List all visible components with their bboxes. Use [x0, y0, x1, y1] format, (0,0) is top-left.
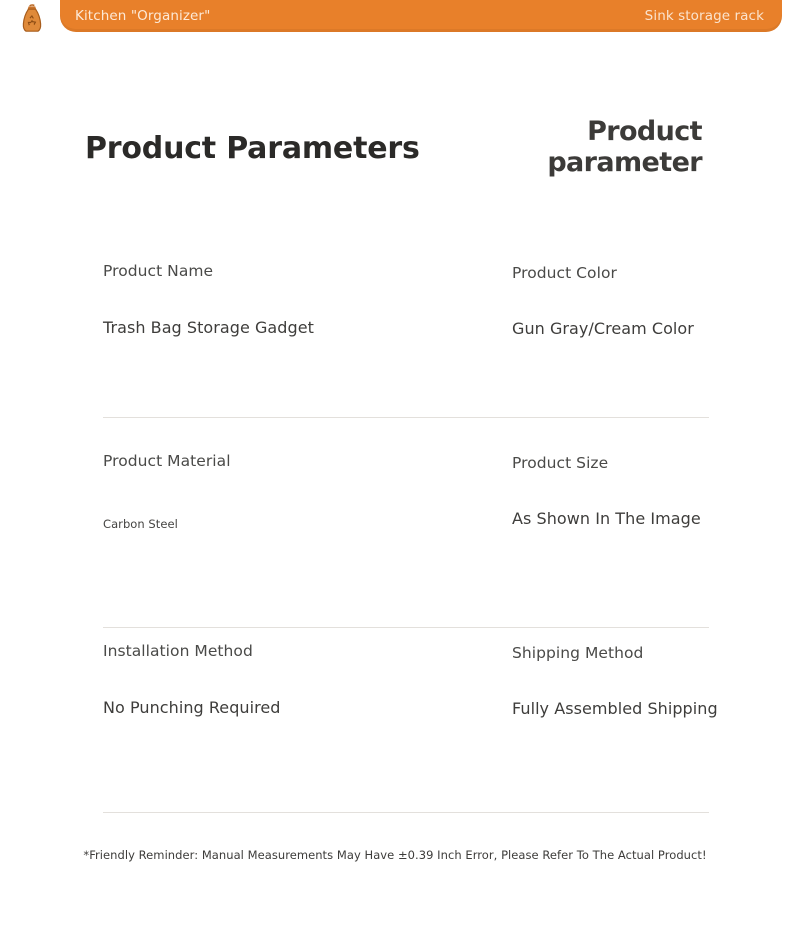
- table-row: Installation Method No Punching Required…: [0, 642, 790, 832]
- spec-value: Gun Gray/Cream Color: [512, 319, 782, 338]
- spec-cell-product-material: Product Material Carbon Steel: [103, 452, 463, 531]
- spec-label: Product Color: [512, 264, 782, 282]
- spec-cell-product-size: Product Size As Shown In The Image: [512, 452, 782, 528]
- measurement-disclaimer: *Friendly Reminder: Manual Measurements …: [0, 848, 790, 862]
- row-divider: [103, 417, 709, 418]
- spec-value: Carbon Steel: [103, 517, 463, 531]
- top-banner: Kitchen "Organizer" Sink storage rack: [60, 0, 782, 32]
- product-parameters-table: Product Name Trash Bag Storage Gadget Pr…: [0, 262, 790, 832]
- spec-label: Shipping Method: [512, 644, 782, 662]
- spec-label: Product Name: [103, 262, 463, 280]
- spec-label: Product Size: [512, 454, 782, 472]
- banner-right-label: Sink storage rack: [645, 8, 764, 24]
- table-row: Product Material Carbon Steel Product Si…: [0, 452, 790, 642]
- spec-value: Trash Bag Storage Gadget: [103, 318, 463, 337]
- spec-label: Product Material: [103, 452, 463, 470]
- spec-value: As Shown In The Image: [512, 509, 782, 528]
- row-divider: [103, 627, 709, 628]
- banner-left-label: Kitchen "Organizer": [75, 8, 210, 24]
- spec-label: Installation Method: [103, 642, 463, 660]
- page-subtitle: Product parameter: [472, 116, 702, 178]
- spec-value: Fully Assembled Shipping: [512, 699, 782, 718]
- spec-cell-product-color: Product Color Gun Gray/Cream Color: [512, 262, 782, 338]
- spec-cell-shipping-method: Shipping Method Fully Assembled Shipping: [512, 642, 782, 718]
- spec-cell-installation-method: Installation Method No Punching Required: [103, 642, 463, 717]
- spec-cell-product-name: Product Name Trash Bag Storage Gadget: [103, 262, 463, 337]
- headings-row: Product Parameters Product parameter: [0, 112, 790, 202]
- trash-bag-recycle-icon: [16, 2, 48, 34]
- spec-value: No Punching Required: [103, 698, 463, 717]
- page-title: Product Parameters: [85, 131, 420, 166]
- table-row: Product Name Trash Bag Storage Gadget Pr…: [0, 262, 790, 452]
- row-divider: [103, 812, 709, 813]
